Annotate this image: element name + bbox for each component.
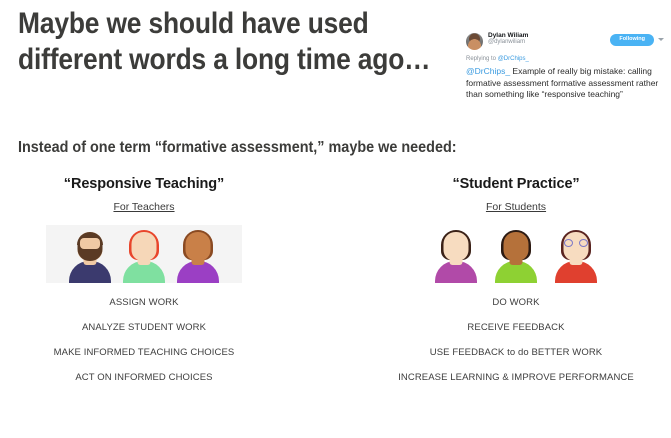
avatar-head (186, 232, 211, 261)
column-title-left: “Responsive Teaching” (0, 176, 294, 192)
teacher-avatar-group (46, 225, 242, 283)
list-item: ANALYZE STUDENT WORK (0, 322, 294, 334)
student-dark-haired-girl (433, 227, 479, 283)
list-item: ACT ON INFORMED CHOICES (0, 372, 294, 384)
avatar (466, 33, 483, 50)
student-girl-with-glasses (553, 227, 599, 283)
slide-subtitle: Instead of one term “formative assessmen… (18, 138, 522, 158)
list-item: ASSIGN WORK (0, 297, 294, 309)
student-avatar-group (416, 225, 616, 283)
presentation-slide: Maybe we should have used different word… (0, 0, 671, 438)
column-title-right: “Student Practice” (366, 176, 666, 192)
teacher-bearded-man (67, 227, 113, 283)
teacher-curly-haired-woman (175, 227, 221, 283)
tweet-display-name: Dylan Wiliam (488, 32, 605, 39)
student-action-list: DO WORKRECEIVE FEEDBACKUSE FEEDBACK to d… (366, 297, 666, 384)
tweet-handle: @dylanwiliam (488, 39, 605, 46)
list-item: DO WORK (366, 297, 666, 309)
avatar-face (80, 238, 100, 249)
tweet-card[interactable]: Dylan Wiliam @dylanwiliam Following Repl… (462, 28, 668, 105)
list-item: USE FEEDBACK to do BETTER WORK (366, 347, 666, 359)
avatar-head (132, 232, 157, 261)
replying-to-mention[interactable]: @DrChips_ (498, 56, 529, 62)
replying-prefix-label: Replying to (466, 56, 498, 62)
list-item: MAKE INFORMED TEACHING CHOICES (0, 347, 294, 359)
avatar-head (504, 232, 529, 261)
tweet-replying-to: Replying to @DrChips_ (466, 56, 664, 62)
following-button[interactable]: Following (610, 34, 654, 46)
glasses-icon (564, 239, 588, 247)
column-subtitle-right: For Students (366, 201, 666, 213)
avatar-head (444, 232, 469, 261)
tweet-header: Dylan Wiliam @dylanwiliam Following (466, 32, 664, 50)
tweet-body-mention[interactable]: @DrChips_ (466, 66, 510, 76)
follow-controls: Following (610, 34, 664, 46)
chevron-down-icon[interactable] (658, 38, 664, 41)
column-responsive-teaching: “Responsive Teaching” For Teachers ASSIG… (0, 176, 294, 397)
teacher-red-haired-woman (121, 227, 167, 283)
column-student-practice: “Student Practice” For Students DO WORKR… (366, 176, 666, 397)
tweet-body: @DrChips_ Example of really big mistake:… (466, 66, 664, 101)
column-subtitle-left: For Teachers (0, 201, 294, 213)
tweet-identity: Dylan Wiliam @dylanwiliam (488, 32, 605, 46)
student-boy (493, 227, 539, 283)
page-title: Maybe we should have used different word… (18, 6, 432, 78)
teacher-action-list: ASSIGN WORKANALYZE STUDENT WORKMAKE INFO… (0, 297, 294, 384)
list-item: RECEIVE FEEDBACK (366, 322, 666, 334)
list-item: INCREASE LEARNING & IMPROVE PERFORMANCE (366, 372, 666, 384)
